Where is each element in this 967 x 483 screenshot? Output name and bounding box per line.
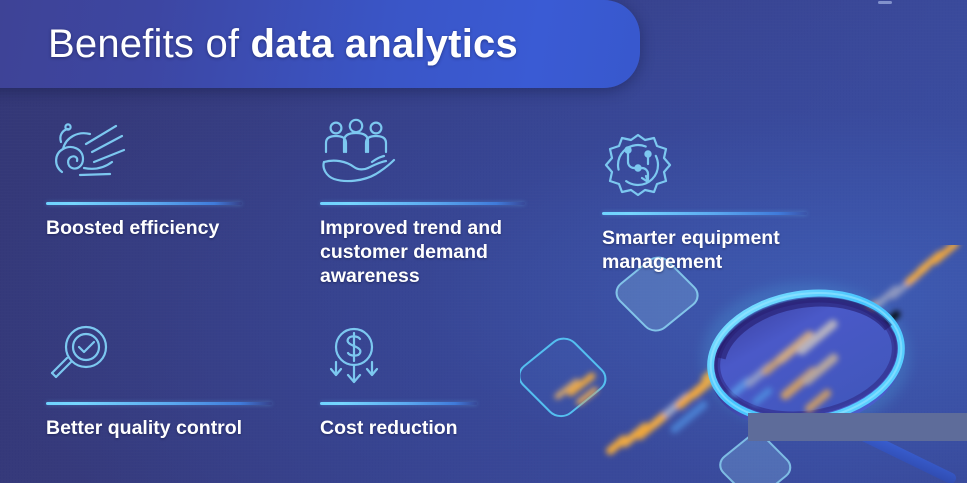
diagonal-data-bars-upper-right xyxy=(850,245,960,335)
dollar-down-arrows-icon xyxy=(320,324,388,390)
magnifier-check-icon xyxy=(46,324,112,390)
benefit-item-quality[interactable]: Better quality control xyxy=(46,318,272,440)
magnifying-lens-data-illustration xyxy=(520,245,967,483)
redaction-block xyxy=(748,413,967,441)
benefit-item-equipment[interactable]: Smarter equipment management xyxy=(602,128,807,274)
benefit-divider xyxy=(46,402,272,405)
benefit-icon-box xyxy=(320,318,477,390)
benefit-label-cost: Cost reduction xyxy=(320,416,477,440)
page-title: Benefits of data analytics xyxy=(48,14,518,74)
benefit-label-quality: Better quality control xyxy=(46,416,272,440)
benefit-divider xyxy=(320,402,477,405)
benefit-item-trend[interactable]: Improved trend and customer demand aware… xyxy=(320,118,525,288)
benefit-divider xyxy=(46,202,242,205)
benefit-label-efficiency: Boosted efficiency xyxy=(46,216,242,240)
benefit-label-equipment: Smarter equipment management xyxy=(602,226,807,274)
benefit-icon-box xyxy=(320,118,525,190)
benefit-divider xyxy=(602,212,807,215)
slide-canvas: Benefits of data analytics Boosted effic… xyxy=(0,0,967,483)
page-title-light: Benefits of xyxy=(48,22,251,66)
people-in-hand-icon xyxy=(320,118,400,190)
benefit-label-trend: Improved trend and customer demand aware… xyxy=(320,216,525,288)
diagonal-data-bars-lower-left xyxy=(604,354,734,457)
lens-inner-data-bars xyxy=(728,318,840,414)
benefit-icon-box xyxy=(602,128,807,200)
benefit-icon-box xyxy=(46,118,242,190)
illustration-svg xyxy=(520,245,967,483)
benefit-divider xyxy=(320,202,525,205)
smart-gear-icon xyxy=(602,132,674,200)
snail-speed-icon xyxy=(46,118,130,190)
diamond-card-left-bars xyxy=(553,371,599,406)
diamond-card-left xyxy=(520,333,611,421)
benefit-item-cost[interactable]: Cost reduction xyxy=(320,318,477,440)
benefit-item-efficiency[interactable]: Boosted efficiency xyxy=(46,118,242,240)
page-title-bold: data analytics xyxy=(251,22,518,66)
benefit-icon-box xyxy=(46,318,272,390)
top-edge-artifact xyxy=(878,1,892,4)
